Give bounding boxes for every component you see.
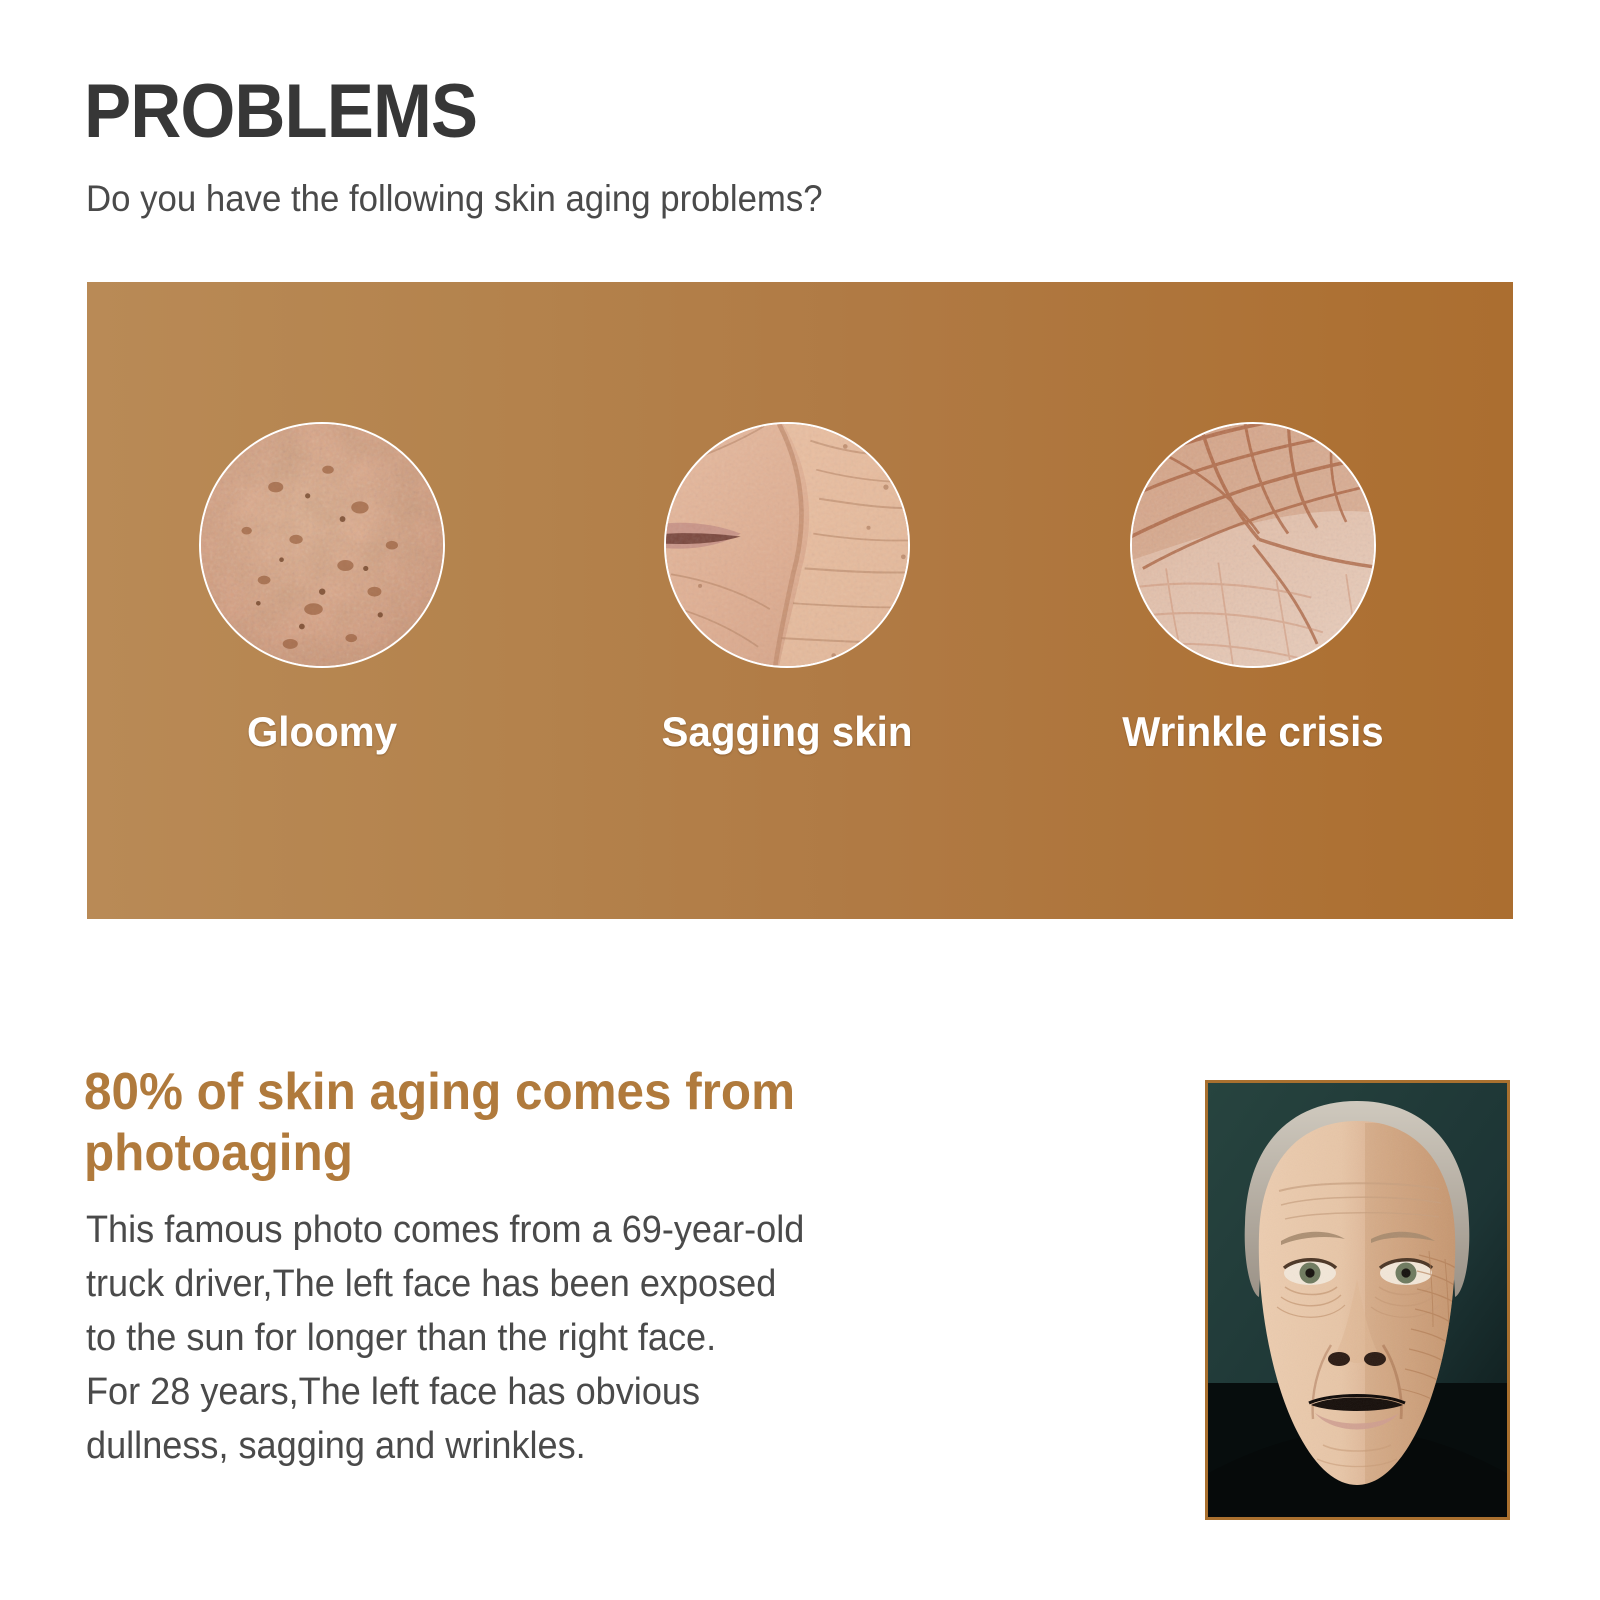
skin-wrinkle-circle-image (1130, 422, 1376, 668)
truck-driver-photoaging-portrait (1205, 1080, 1510, 1520)
problems-banner: Gloomy (87, 282, 1513, 919)
skin-sagging-circle-image (664, 422, 910, 668)
problem-item-sagging-skin[interactable]: Sagging skin (637, 422, 937, 756)
problem-label: Gloomy (178, 708, 466, 756)
page-subtitle: Do you have the following skin aging pro… (86, 178, 823, 220)
body-line: dullness, sagging and wrinkles. (86, 1420, 1036, 1474)
problem-label: Wrinkle crisis (1109, 708, 1397, 756)
body-line: to the sun for longer than the right fac… (86, 1312, 1036, 1366)
problem-item-gloomy[interactable]: Gloomy (172, 422, 472, 756)
photoaging-body: This famous photo comes from a 69-year-o… (86, 1204, 1036, 1474)
problem-label: Sagging skin (643, 708, 931, 756)
problem-circle-row: Gloomy (87, 282, 1513, 919)
body-line: For 28 years,The left face has obvious (86, 1366, 1036, 1420)
skin-pigmentation-circle-image (199, 422, 445, 668)
body-line: This famous photo comes from a 69-year-o… (86, 1204, 1036, 1258)
problem-item-wrinkle-crisis[interactable]: Wrinkle crisis (1103, 422, 1403, 756)
photoaging-heading: 80% of skin aging comes from photoaging (84, 1062, 835, 1185)
body-line: truck driver,The left face has been expo… (86, 1258, 1036, 1312)
page-title: PROBLEMS (84, 76, 477, 148)
